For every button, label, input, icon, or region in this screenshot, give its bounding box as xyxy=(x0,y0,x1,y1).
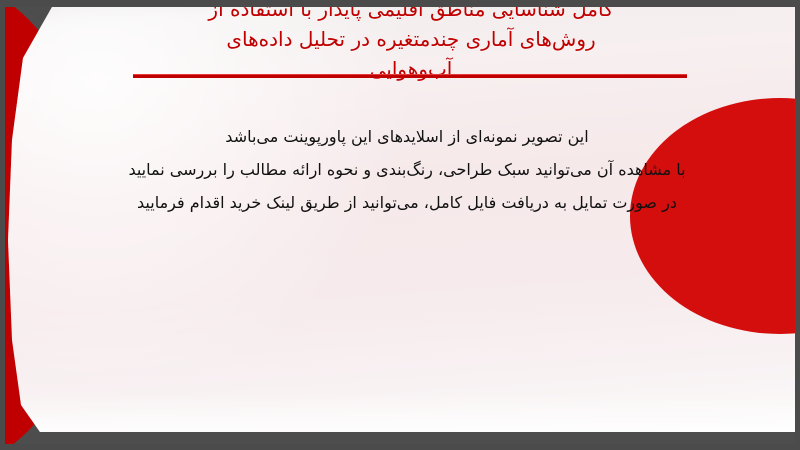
body-line-3: در صورت تمایل به دریافت فایل کامل، می‌تو… xyxy=(110,186,704,219)
presentation-slide: کامل شناسایی مناطق اقلیمی پایدار با استف… xyxy=(0,0,800,450)
body-line-2: با مشاهده آن می‌توانید سبک طراحی، رنگ‌بن… xyxy=(110,153,704,186)
frame-top-edge xyxy=(0,0,800,7)
slide-body: این تصویر نمونه‌ای از اسلایدهای این پاور… xyxy=(110,120,704,219)
body-line-1: این تصویر نمونه‌ای از اسلایدهای این پاور… xyxy=(110,120,704,153)
frame-right-edge xyxy=(795,0,800,450)
slide-title: کامل شناسایی مناطق اقلیمی پایدار با استف… xyxy=(120,0,702,84)
frame-bottom-edge xyxy=(0,444,800,450)
title-underline xyxy=(133,74,687,77)
title-underline-bar xyxy=(133,74,687,78)
title-line-3: آب‌وهوایی xyxy=(120,54,702,84)
title-line-2: روش‌های آماری چندمتغیره در تحلیل داده‌ها… xyxy=(120,24,702,54)
frame-left-edge xyxy=(0,0,5,450)
